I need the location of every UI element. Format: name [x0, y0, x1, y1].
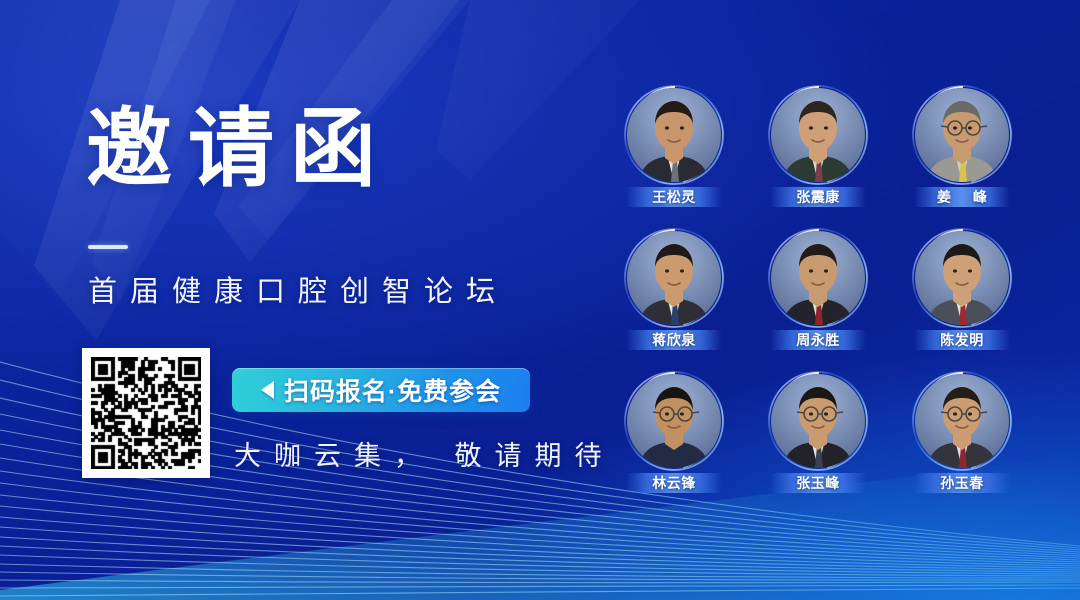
avatar [771, 231, 865, 325]
left-content-column: 邀请函 首届健康口腔创智论坛 扫码报名·免费参会 大咖云集， 敬请期待 [0, 0, 600, 600]
speaker-nameplate: 孙玉春 [914, 473, 1010, 493]
avatar [627, 231, 721, 325]
registration-qr-code[interactable] [82, 348, 210, 478]
avatar-ring [627, 231, 721, 325]
avatar [771, 374, 865, 468]
scan-to-register-button[interactable]: 扫码报名·免费参会 [232, 368, 530, 412]
avatar-ring [915, 88, 1009, 182]
speaker-nameplate: 张玉峰 [770, 473, 866, 493]
speaker-card[interactable]: 王松灵 [608, 86, 740, 220]
cta-label: 扫码报名·免费参会 [284, 372, 501, 408]
speaker-card[interactable]: 陈发明 [896, 229, 1028, 363]
avatar [915, 231, 1009, 325]
avatar-ring [627, 88, 721, 182]
title-divider [88, 245, 128, 249]
avatar-ring [915, 374, 1009, 468]
avatar-ring [771, 231, 865, 325]
qr-code-image [91, 357, 201, 469]
avatar-ring [627, 374, 721, 468]
left-triangle-icon [261, 381, 274, 399]
tagline-text: 大咖云集， 敬请期待 [234, 434, 615, 473]
avatar-ring [771, 88, 865, 182]
avatar [627, 88, 721, 182]
speaker-nameplate: 陈发明 [914, 330, 1010, 350]
speaker-name: 张玉峰 [796, 473, 840, 493]
speaker-nameplate: 周永胜 [770, 330, 866, 350]
speaker-name: 孙玉春 [940, 473, 984, 493]
speaker-nameplate: 林云锋 [626, 473, 722, 493]
speaker-card[interactable]: 蒋欣泉 [608, 229, 740, 363]
avatar [627, 374, 721, 468]
speaker-card[interactable]: 姜 峰 [896, 86, 1028, 220]
speaker-nameplate: 蒋欣泉 [626, 330, 722, 350]
speaker-card[interactable]: 周永胜 [752, 229, 884, 363]
page-title: 邀请函 [86, 104, 392, 194]
speaker-grid: 王松灵 张震康 [608, 86, 1028, 506]
speaker-name: 陈发明 [940, 330, 984, 350]
speaker-name: 蒋欣泉 [652, 330, 696, 350]
invitation-poster: 邀请函 首届健康口腔创智论坛 扫码报名·免费参会 大咖云集， 敬请期待 [0, 0, 1080, 600]
speaker-card[interactable]: 林云锋 [608, 372, 740, 506]
speaker-name: 张震康 [796, 187, 840, 207]
speaker-name: 姜 峰 [928, 187, 996, 207]
avatar [915, 88, 1009, 182]
event-subtitle: 首届健康口腔创智论坛 [88, 268, 508, 310]
avatar [915, 374, 1009, 468]
speaker-card[interactable]: 张玉峰 [752, 372, 884, 506]
avatar [771, 88, 865, 182]
speaker-nameplate: 王松灵 [626, 187, 722, 207]
speaker-nameplate: 张震康 [770, 187, 866, 207]
avatar-ring [771, 374, 865, 468]
speaker-name: 周永胜 [796, 330, 840, 350]
speaker-nameplate: 姜 峰 [914, 187, 1010, 207]
speaker-name: 林云锋 [652, 473, 696, 493]
speaker-card[interactable]: 孙玉春 [896, 372, 1028, 506]
speaker-name: 王松灵 [652, 187, 696, 207]
avatar-ring [915, 231, 1009, 325]
speaker-card[interactable]: 张震康 [752, 86, 884, 220]
